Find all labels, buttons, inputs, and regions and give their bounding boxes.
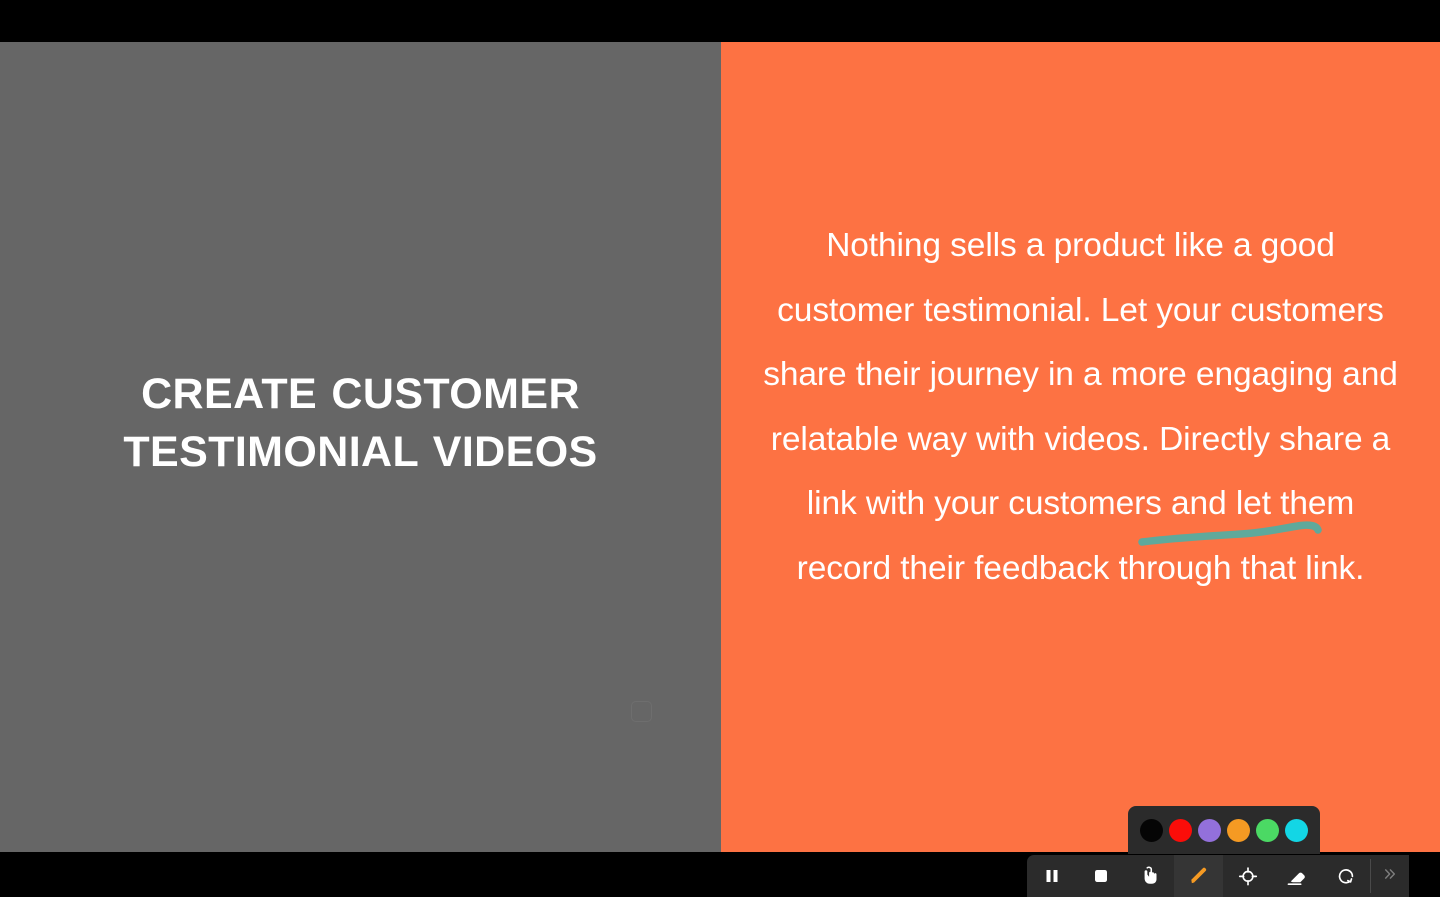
pointer-tool-button[interactable] <box>1125 855 1174 897</box>
color-swatch-red[interactable] <box>1169 819 1192 842</box>
reset-button[interactable] <box>1321 855 1370 897</box>
annotation-toolbar[interactable] <box>1027 855 1409 897</box>
slide-body-text: Nothing sells a product like a good cust… <box>761 214 1401 601</box>
presentation-stage: CREATE CUSTOMER TESTIMONIAL VIDEOS Nothi… <box>0 0 1440 897</box>
crosshair-icon <box>1237 865 1259 887</box>
watermark-icon <box>631 701 652 722</box>
stop-button[interactable] <box>1076 855 1125 897</box>
color-palette-popup[interactable] <box>1128 806 1320 854</box>
color-swatch-cyan[interactable] <box>1285 819 1308 842</box>
expand-toolbar-button[interactable] <box>1371 855 1409 897</box>
color-swatch-purple[interactable] <box>1198 819 1221 842</box>
slide-title: CREATE CUSTOMER TESTIMONIAL VIDEOS <box>81 365 641 481</box>
double-chevron-right-icon <box>1381 865 1399 888</box>
color-swatch-green[interactable] <box>1256 819 1279 842</box>
pencil-icon <box>1188 865 1210 887</box>
color-swatch-black[interactable] <box>1140 819 1163 842</box>
eraser-icon <box>1285 865 1308 888</box>
stop-icon <box>1091 866 1111 886</box>
hand-tap-icon <box>1139 865 1161 887</box>
pause-icon <box>1042 866 1062 886</box>
refresh-icon <box>1335 865 1357 887</box>
slide-right-panel: Nothing sells a product like a good cust… <box>721 42 1440 852</box>
eraser-tool-button[interactable] <box>1272 855 1321 897</box>
spotlight-button[interactable] <box>1223 855 1272 897</box>
pause-button[interactable] <box>1027 855 1076 897</box>
slide-left-panel: CREATE CUSTOMER TESTIMONIAL VIDEOS <box>0 42 721 852</box>
color-swatch-orange[interactable] <box>1227 819 1250 842</box>
slide-canvas[interactable]: CREATE CUSTOMER TESTIMONIAL VIDEOS Nothi… <box>0 42 1440 852</box>
pen-tool-button[interactable] <box>1174 855 1223 897</box>
